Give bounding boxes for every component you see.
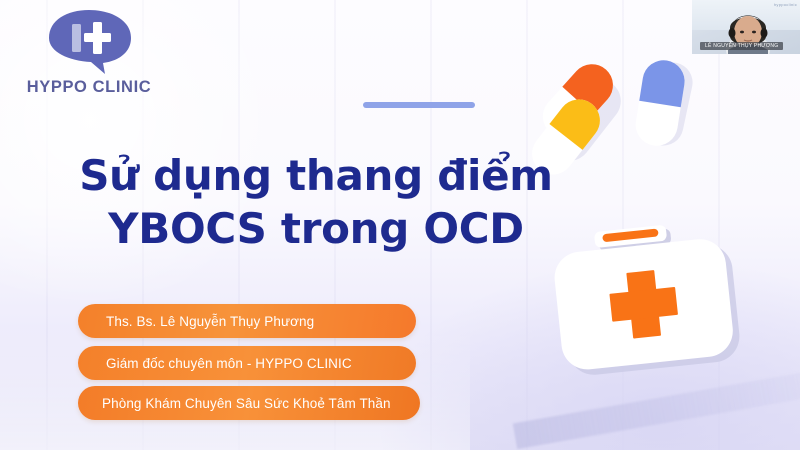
badge-speaker-name-label: Ths. Bs. Lê Nguyễn Thụy Phương xyxy=(78,314,314,329)
speech-bubble-medical-cross-icon xyxy=(41,8,137,76)
title-line-2: YBOCS trong OCD xyxy=(36,203,596,256)
speaker-info-badges: Ths. Bs. Lê Nguyễn Thụy Phương Giám đốc … xyxy=(78,304,420,420)
presentation-slide: HYPPO CLINIC xyxy=(0,0,800,450)
badge-clinic-description-label: Phòng Khám Chuyên Sâu Sức Khoẻ Tâm Thần xyxy=(78,396,391,411)
webcam-overlay[interactable]: hyppoclinic LÊ NGUYỄN THỤY PHƯƠNG xyxy=(692,0,800,54)
badge-speaker-role: Giám đốc chuyên môn - HYPPO CLINIC xyxy=(78,346,416,380)
badge-clinic-description: Phòng Khám Chuyên Sâu Sức Khoẻ Tâm Thần xyxy=(78,386,420,420)
webcam-name-label: LÊ NGUYỄN THỤY PHƯƠNG xyxy=(700,42,783,50)
badge-speaker-name: Ths. Bs. Lê Nguyễn Thụy Phương xyxy=(78,304,416,338)
badge-speaker-role-label: Giám đốc chuyên môn - HYPPO CLINIC xyxy=(78,356,352,371)
title-line-1: Sử dụng thang điểm xyxy=(36,150,596,203)
brand-logo: HYPPO CLINIC xyxy=(14,8,164,97)
webcam-watermark: hyppoclinic xyxy=(774,2,797,7)
accent-divider-bar xyxy=(363,102,475,108)
page-title: Sử dụng thang điểm YBOCS trong OCD xyxy=(36,150,596,256)
brand-name: HYPPO CLINIC xyxy=(14,78,164,97)
